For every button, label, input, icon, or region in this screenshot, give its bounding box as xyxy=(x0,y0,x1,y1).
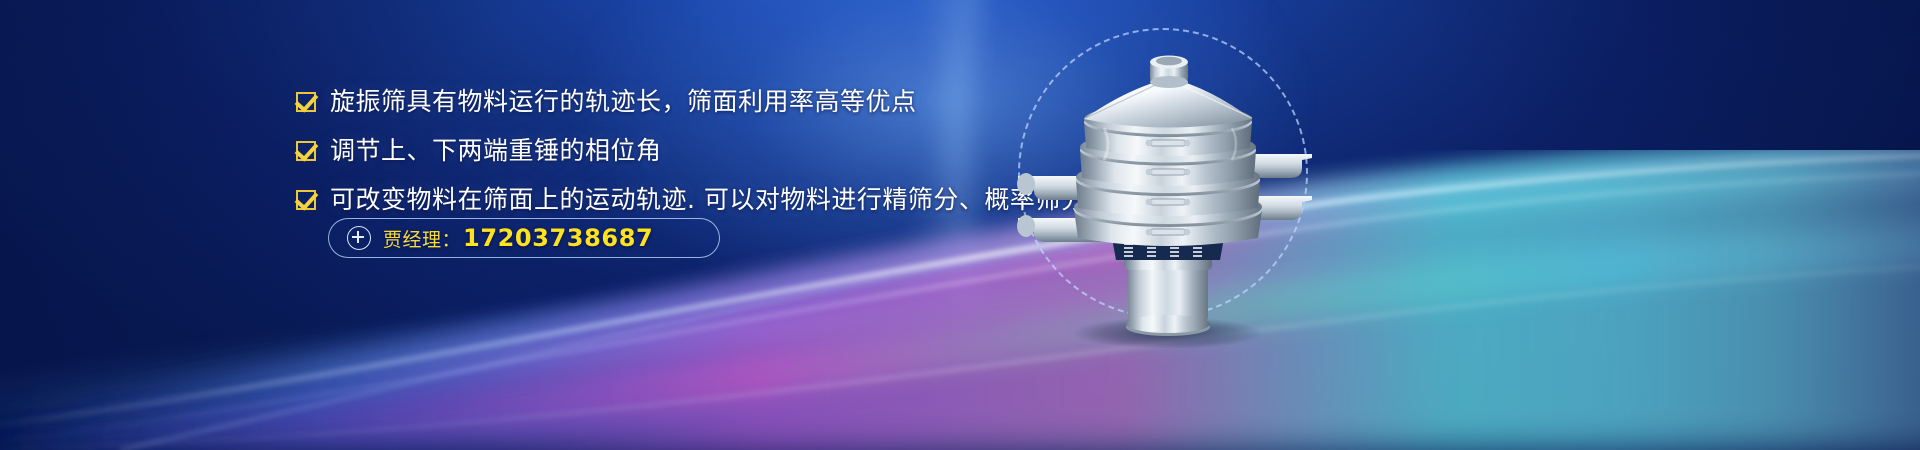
promo-banner: 旋振筛具有物料运行的轨迹长，筛面利用率高等优点 调节上、下两端重锤的相位角 可改… xyxy=(0,0,1920,450)
feature-item: 旋振筛具有物料运行的轨迹长，筛面利用率高等优点 xyxy=(296,86,1056,118)
feature-text: 调节上、下两端重锤的相位角 xyxy=(330,135,662,167)
checkbox-checked-icon xyxy=(296,141,316,161)
feature-list: 旋振筛具有物料运行的轨迹长，筛面利用率高等优点 调节上、下两端重锤的相位角 可改… xyxy=(296,86,1056,233)
contact-button[interactable]: 贾经理： 17203738687 xyxy=(328,218,720,258)
feature-text: 旋振筛具有物料运行的轨迹长，筛面利用率高等优点 xyxy=(330,86,917,118)
plus-circle-icon xyxy=(347,226,371,250)
feature-item: 调节上、下两端重锤的相位角 xyxy=(296,135,1056,167)
feature-item: 可改变物料在筛面上的运动轨迹. 可以对物料进行精筛分、概率筛分等 xyxy=(296,184,1056,216)
feature-text: 可改变物料在筛面上的运动轨迹. 可以对物料进行精筛分、概率筛分等 xyxy=(330,184,1112,216)
checkbox-checked-icon xyxy=(296,92,316,112)
rotary-vibrating-screen-image xyxy=(1000,48,1330,348)
checkbox-checked-icon xyxy=(296,190,316,210)
contact-name-label: 贾经理： xyxy=(383,225,461,252)
contact-phone-number: 17203738687 xyxy=(463,224,653,252)
